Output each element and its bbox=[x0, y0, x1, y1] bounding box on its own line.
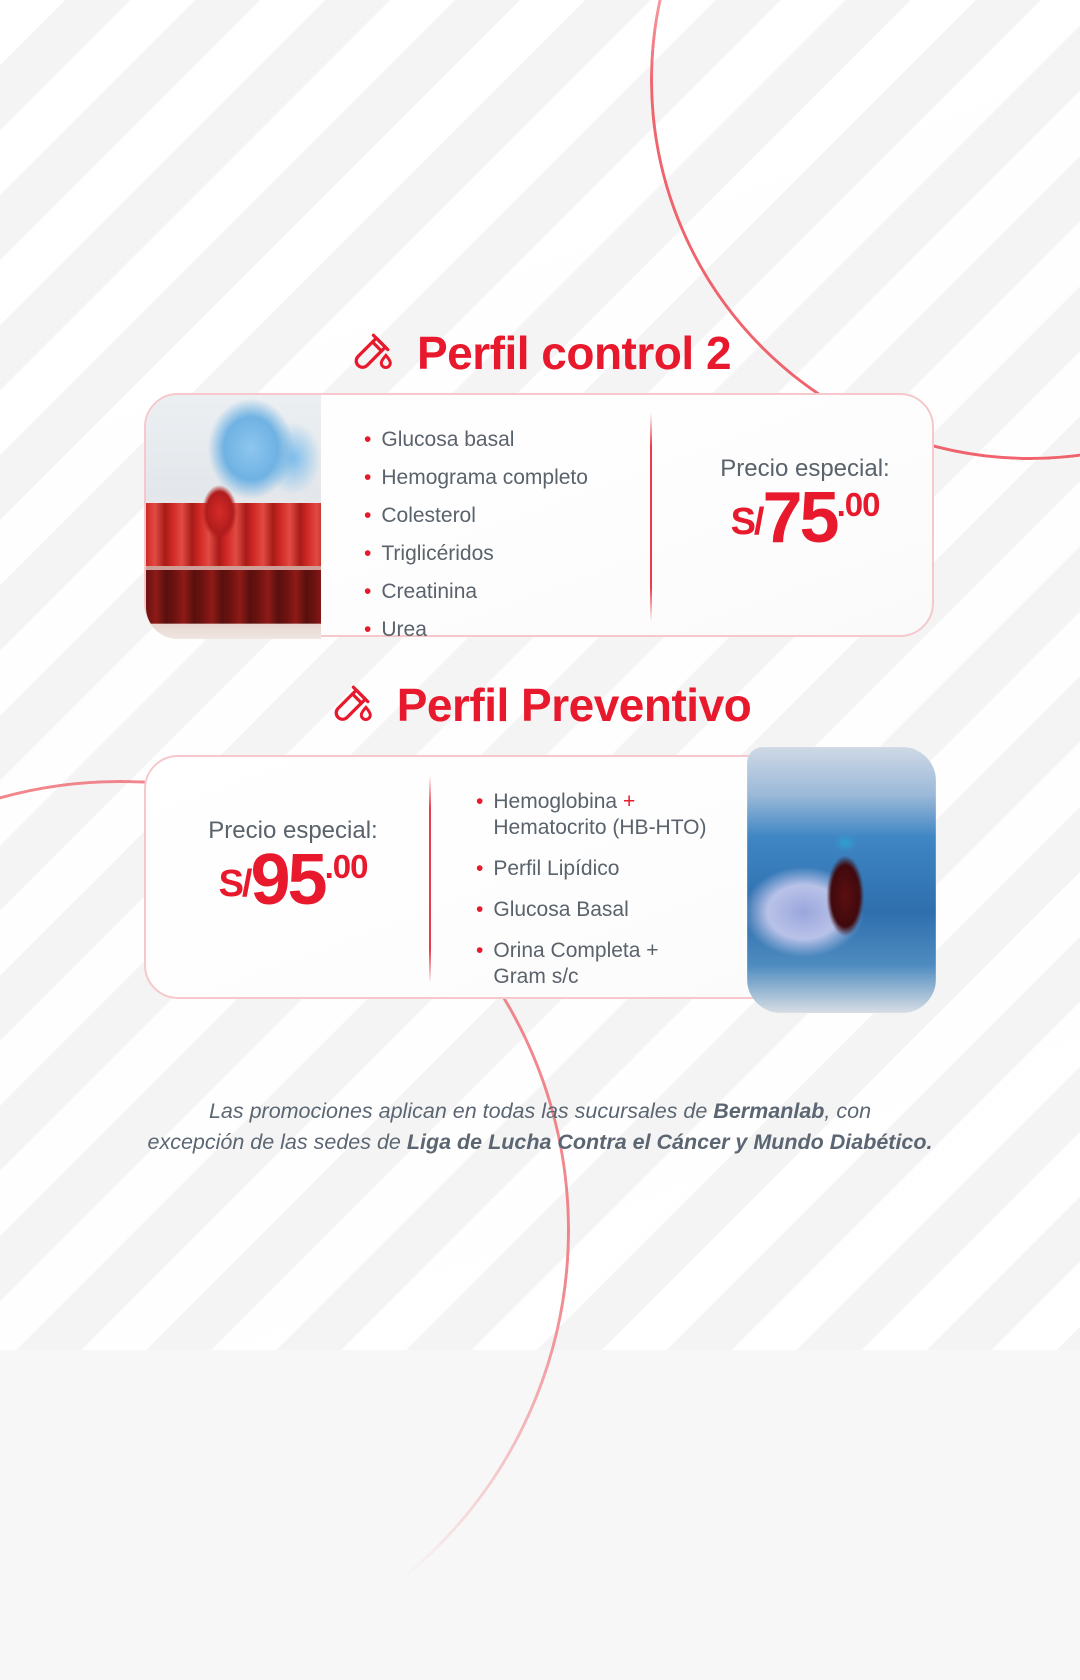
list-item-label: Colesterol bbox=[381, 503, 476, 529]
list-item: • Hemoglobina + Hematocrito (HB-HTO) bbox=[476, 789, 758, 841]
section-heading-control: Perfil control 2 bbox=[0, 326, 1080, 380]
list-item-label: Glucosa basal bbox=[381, 427, 514, 453]
bullet-dot: • bbox=[364, 541, 371, 567]
services-list-control: • Glucosa basal • Hemograma completo • C… bbox=[364, 427, 634, 655]
list-item-line1: Hemoglobina bbox=[493, 790, 623, 813]
promo-poster: Perfil control 2 • Glucosa basal • Hemog… bbox=[0, 0, 1080, 1350]
price-block-control: Precio especial: S/ 75 .00 bbox=[676, 455, 934, 551]
bullet-dot: • bbox=[364, 503, 371, 529]
card-perfil-preventivo: Precio especial: S/ 95 .00 • Hemoglobina… bbox=[144, 755, 934, 999]
footer-line1-post: , con bbox=[824, 1099, 871, 1123]
footer-line2-pre: excepción de las sedes de bbox=[147, 1130, 406, 1154]
price-value: 75 bbox=[762, 485, 836, 551]
currency-symbol: S/ bbox=[731, 503, 763, 551]
photo-lab-technician bbox=[747, 747, 936, 1013]
currency-symbol: S/ bbox=[219, 865, 251, 913]
list-item-label: Creatinina bbox=[381, 579, 477, 605]
test-tube-icon bbox=[329, 682, 375, 728]
services-list-preventivo: • Hemoglobina + Hematocrito (HB-HTO) • P… bbox=[476, 789, 758, 1005]
plus-symbol: + bbox=[623, 790, 635, 813]
list-item: • Perfil Lipídico bbox=[476, 856, 758, 882]
bullet-dot: • bbox=[476, 897, 483, 923]
bullet-dot: • bbox=[476, 856, 483, 882]
list-item: • Hemograma completo bbox=[364, 465, 634, 491]
list-item-label: Triglicéridos bbox=[381, 541, 493, 567]
footer-exceptions: Liga de Lucha Contra el Cáncer y Mundo D… bbox=[407, 1130, 933, 1154]
list-item-label: Hemograma completo bbox=[381, 465, 588, 491]
bullet-dot: • bbox=[364, 465, 371, 491]
list-item-label: Orina Completa + Gram s/c bbox=[493, 938, 658, 990]
list-item: • Triglicéridos bbox=[364, 541, 634, 567]
list-item: • Orina Completa + Gram s/c bbox=[476, 938, 758, 990]
list-item: • Creatinina bbox=[364, 579, 634, 605]
card-divider bbox=[429, 775, 431, 983]
bullet-dot: • bbox=[364, 579, 371, 605]
list-item-label: Perfil Lipídico bbox=[493, 856, 619, 882]
bullet-dot: • bbox=[476, 789, 483, 815]
list-item: • Glucosa Basal bbox=[476, 897, 758, 923]
list-item: • Colesterol bbox=[364, 503, 634, 529]
price-value: 95 bbox=[250, 847, 324, 913]
list-item-line1: Orina Completa + bbox=[493, 939, 658, 962]
list-item-line2: Gram s/c bbox=[493, 965, 578, 988]
price-block-preventivo: Precio especial: S/ 95 .00 bbox=[160, 817, 426, 913]
photo-blood-tubes bbox=[146, 395, 321, 639]
section-title: Perfil Preventivo bbox=[397, 678, 752, 732]
price-cents: .00 bbox=[325, 850, 368, 913]
bullet-dot: • bbox=[364, 427, 371, 453]
footer-disclaimer: Las promociones aplican en todas las suc… bbox=[90, 1096, 990, 1159]
list-item-label: Urea bbox=[381, 617, 427, 643]
price-amount: S/ 95 .00 bbox=[160, 847, 426, 913]
list-item: • Urea bbox=[364, 617, 634, 643]
footer-line1-pre: Las promociones aplican en todas las suc… bbox=[209, 1099, 713, 1123]
test-tube-icon bbox=[349, 330, 395, 376]
bullet-dot: • bbox=[476, 938, 483, 964]
list-item-label: Glucosa Basal bbox=[493, 897, 628, 923]
section-title: Perfil control 2 bbox=[417, 326, 731, 380]
card-perfil-control-2: • Glucosa basal • Hemograma completo • C… bbox=[144, 393, 934, 637]
card-divider bbox=[650, 413, 652, 621]
section-heading-preventivo: Perfil Preventivo bbox=[0, 678, 1080, 732]
footer-brand: Bermanlab bbox=[713, 1099, 824, 1123]
list-item-line2: Hematocrito (HB-HTO) bbox=[493, 816, 706, 839]
list-item-label: Hemoglobina + Hematocrito (HB-HTO) bbox=[493, 789, 706, 841]
price-cents: .00 bbox=[837, 488, 880, 551]
price-amount: S/ 75 .00 bbox=[676, 485, 934, 551]
list-item: • Glucosa basal bbox=[364, 427, 634, 453]
bullet-dot: • bbox=[364, 617, 371, 643]
